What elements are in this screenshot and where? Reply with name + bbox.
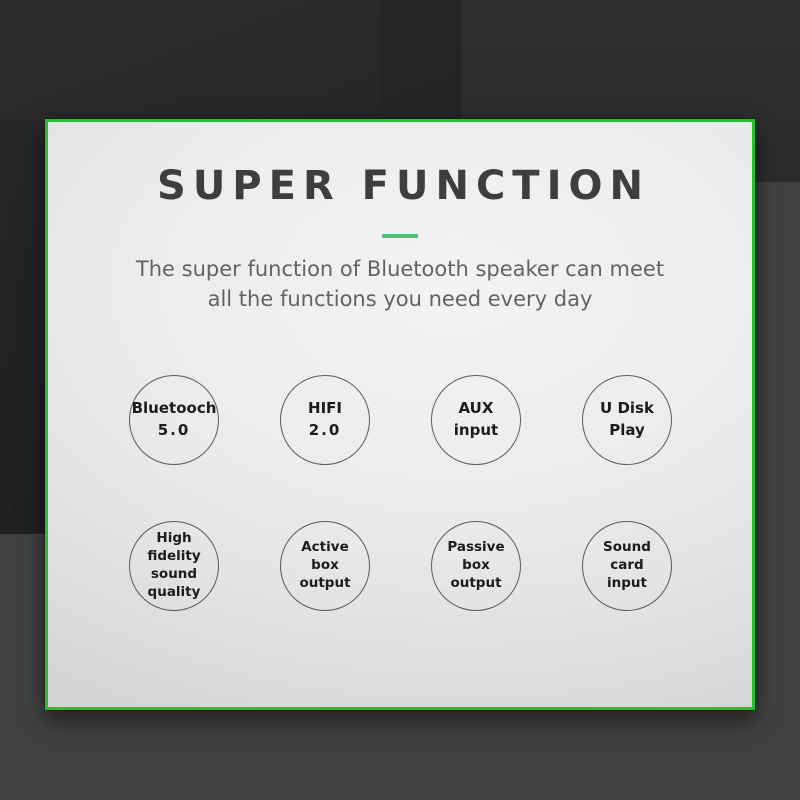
feature-line-1: Sound — [603, 539, 651, 555]
card-inner: SUPER FUNCTION The super function of Blu… — [48, 122, 752, 707]
background-seam — [0, 0, 380, 120]
feature-label-high-fidelity-sound-quality: High fidelity sound quality — [147, 530, 200, 601]
feature-line-2: 2.0 — [309, 421, 342, 439]
feature-label-passive-box-output: Passive box output — [447, 539, 504, 592]
feature-card: SUPER FUNCTION The super function of Blu… — [45, 119, 755, 710]
feature-circle-active-box-output[interactable]: Active box output — [280, 521, 370, 611]
feature-label-bluetooth: Bluetooch 5.0 — [132, 398, 217, 442]
feature-label-hifi: HIFI 2.0 — [308, 398, 342, 442]
feature-line-1: U Disk — [600, 399, 654, 417]
feature-circle-bluetooth[interactable]: Bluetooch 5.0 — [129, 375, 219, 465]
page-subtitle: The super function of Bluetooth speaker … — [100, 255, 700, 315]
subtitle-line-1: The super function of Bluetooth speaker … — [100, 255, 700, 285]
feature-line-2: fidelity — [147, 548, 200, 564]
feature-row-1: Bluetooch 5.0 HIFI 2.0 AUX input — [48, 356, 752, 502]
feature-line-3: output — [450, 575, 501, 591]
feature-line-1: Bluetooch — [132, 399, 217, 417]
feature-circle-passive-box-output[interactable]: Passive box output — [431, 521, 521, 611]
feature-line-3: input — [607, 575, 647, 591]
subtitle-line-2: all the functions you need every day — [100, 285, 700, 315]
feature-row-2: High fidelity sound quality Active box o… — [48, 502, 752, 648]
feature-label-aux-input: AUX input — [454, 398, 498, 442]
feature-circle-hifi[interactable]: HIFI 2.0 — [280, 375, 370, 465]
feature-label-active-box-output: Active box output — [299, 539, 350, 592]
feature-line-1: HIFI — [308, 399, 342, 417]
feature-line-1: AUX — [459, 399, 494, 417]
feature-circle-aux-input[interactable]: AUX input — [431, 375, 521, 465]
feature-circle-high-fidelity-sound-quality[interactable]: High fidelity sound quality — [129, 521, 219, 611]
page-root: SUPER FUNCTION The super function of Blu… — [0, 0, 800, 800]
feature-line-2: Play — [609, 421, 645, 439]
feature-line-4: quality — [148, 584, 201, 600]
page-title: SUPER FUNCTION — [48, 166, 752, 206]
feature-circle-grid: Bluetooch 5.0 HIFI 2.0 AUX input — [48, 356, 752, 648]
title-accent-rule — [382, 234, 418, 238]
feature-circle-sound-card-input[interactable]: Sound card input — [582, 521, 672, 611]
feature-line-2: box — [462, 557, 490, 573]
feature-label-u-disk-play: U Disk Play — [600, 398, 654, 442]
feature-line-3: sound — [151, 566, 197, 582]
feature-line-3: output — [299, 575, 350, 591]
feature-line-1: Active — [301, 539, 349, 555]
feature-line-1: High — [156, 530, 191, 546]
feature-circle-u-disk-play[interactable]: U Disk Play — [582, 375, 672, 465]
feature-line-2: input — [454, 421, 498, 439]
feature-label-sound-card-input: Sound card input — [603, 539, 651, 592]
feature-line-2: box — [311, 557, 339, 573]
feature-line-2: card — [610, 557, 643, 573]
feature-line-1: Passive — [447, 539, 504, 555]
feature-line-2: 5.0 — [158, 421, 191, 439]
